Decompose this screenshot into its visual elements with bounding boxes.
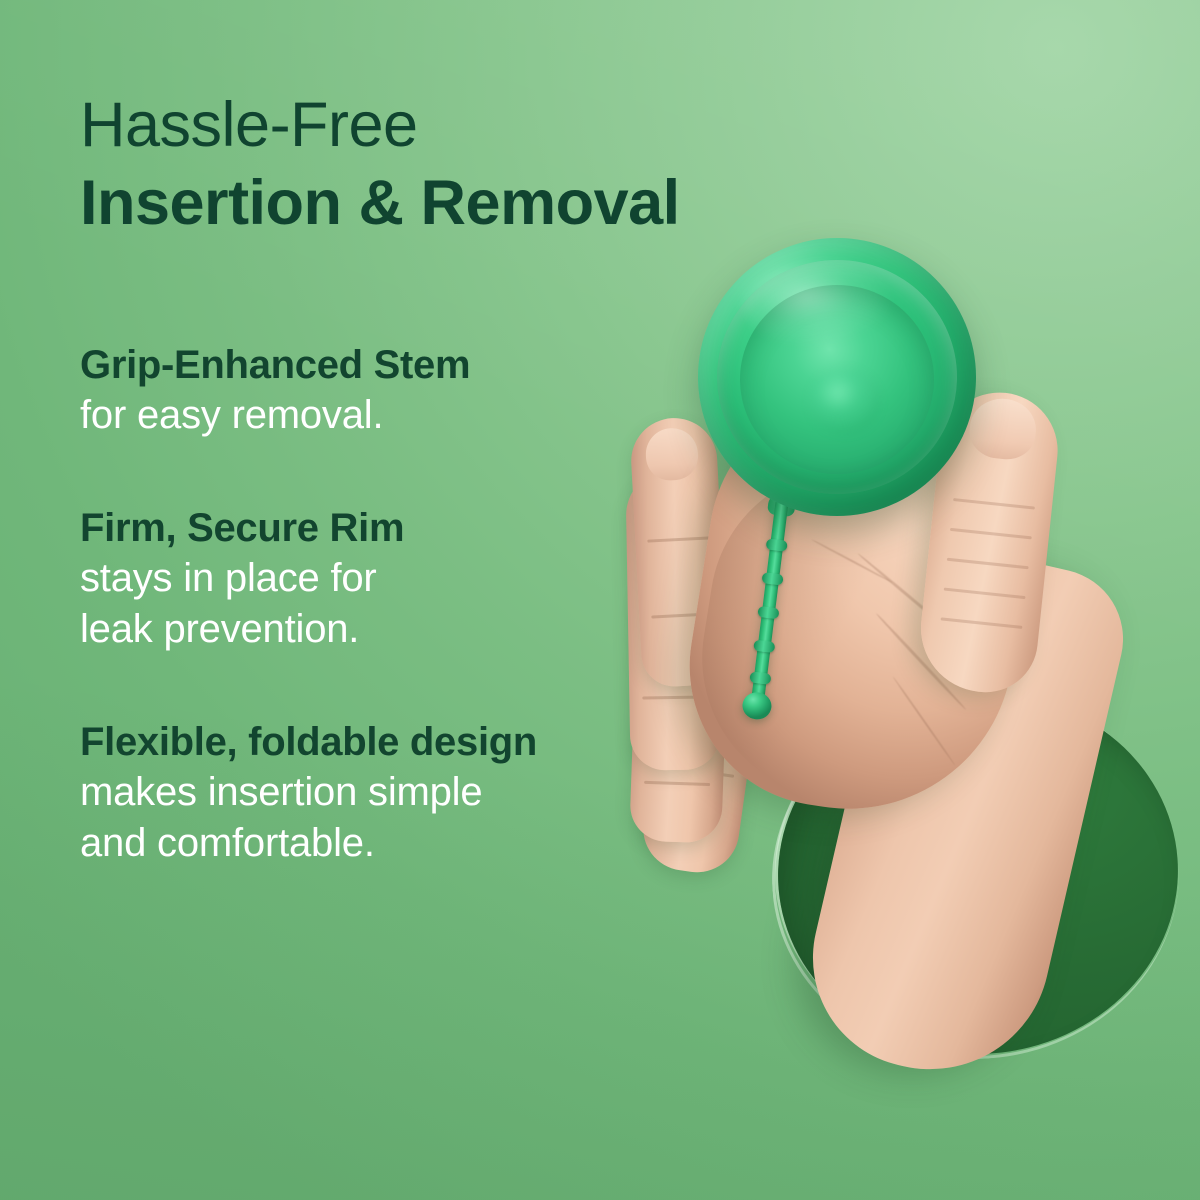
infographic-canvas: Hassle-Free Insertion & Removal Grip-Enh… [0, 0, 1200, 1200]
headline-regular: Hassle-Free [80, 90, 418, 160]
menstrual-cup [698, 238, 976, 516]
feature-item-grip-enhanced-stem: Grip-Enhanced Stem for easy removal. [80, 340, 680, 441]
feature-title: Flexible, foldable design [80, 717, 680, 767]
thumb-crease [947, 558, 1029, 570]
headline-bold: Insertion & Removal [80, 168, 680, 238]
feature-title: Grip-Enhanced Stem [80, 340, 680, 390]
stem-ball-tip [741, 691, 773, 721]
feature-item-firm-secure-rim: Firm, Secure Rim stays in place for leak… [80, 503, 680, 655]
thumbnail [967, 396, 1039, 463]
thumb-crease [944, 588, 1026, 600]
feature-list: Grip-Enhanced Stem for easy removal. Fir… [80, 340, 680, 869]
thumb-crease [940, 617, 1022, 629]
feature-body: stays in place for leak prevention. [80, 553, 680, 655]
text-column: Hassle-Free Insertion & Removal Grip-Enh… [80, 86, 680, 869]
feature-body: for easy removal. [80, 390, 680, 441]
thumb-crease [950, 528, 1032, 540]
feature-body: makes insertion simple and comfortable. [80, 767, 680, 869]
feature-item-flexible-foldable-design: Flexible, foldable design makes insertio… [80, 717, 680, 869]
page-title: Hassle-Free Insertion & Removal [80, 86, 680, 242]
feature-title: Firm, Secure Rim [80, 503, 680, 553]
